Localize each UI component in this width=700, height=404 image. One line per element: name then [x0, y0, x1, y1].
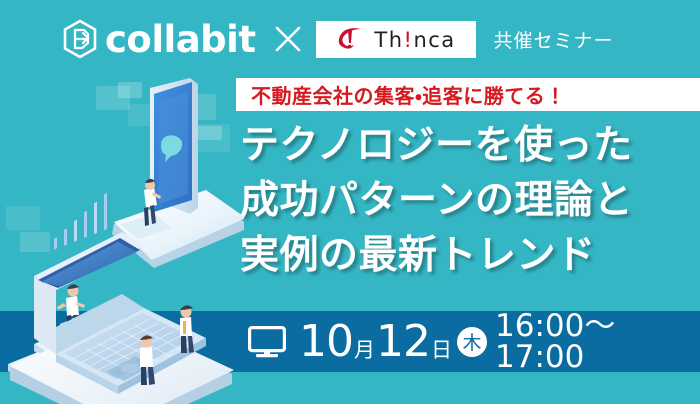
banner-header: collabit Th!nca 共催セミナー	[0, 0, 700, 78]
month-number: 10	[299, 320, 353, 364]
thinca-logo: Th!nca	[316, 21, 476, 58]
thinca-word-bang: !	[404, 28, 414, 52]
day-number: 12	[376, 320, 430, 364]
headline-line-3: 実例の最新トレンド	[240, 228, 700, 283]
catch-copy-strip: 不動産会社の集客・追客に勝てる！	[236, 78, 700, 111]
collabit-wordmark: collabit	[105, 21, 256, 58]
thinca-word-before: Th	[374, 28, 403, 52]
collabit-logo: collabit	[62, 19, 256, 59]
collabit-hexagon-mark	[62, 19, 98, 59]
thinca-wordmark: Th!nca	[374, 30, 455, 51]
catch-copy-text: 不動産会社の集客・追客に勝てる！	[251, 80, 566, 109]
time-range: 16:00〜17:00	[495, 311, 700, 373]
headline-line-1: テクノロジーを使った	[240, 118, 700, 173]
monitor-icon	[248, 326, 286, 358]
main-headline: テクノロジーを使った 成功パターンの理論と 実例の最新トレンド	[240, 118, 700, 283]
isometric-illustration	[0, 72, 244, 404]
headline-line-2: 成功パターンの理論と	[240, 173, 700, 228]
x-separator-icon	[274, 25, 302, 53]
large-smartphone	[150, 78, 198, 214]
date-time-row: 10 月 12 日 木 16:00〜17:00	[248, 311, 700, 372]
thinca-word-after: nca	[413, 28, 455, 52]
screen-bar-chart	[54, 193, 107, 250]
thinca-swoosh-icon	[335, 26, 369, 52]
month-kanji: 月	[354, 340, 375, 361]
seminar-type-label: 共催セミナー	[494, 26, 614, 53]
day-of-week-badge: 木	[457, 327, 487, 357]
seminar-banner: collabit Th!nca 共催セミナー 不動産会社の集客・追客に勝てる！ …	[0, 0, 700, 404]
day-kanji: 日	[431, 340, 452, 361]
